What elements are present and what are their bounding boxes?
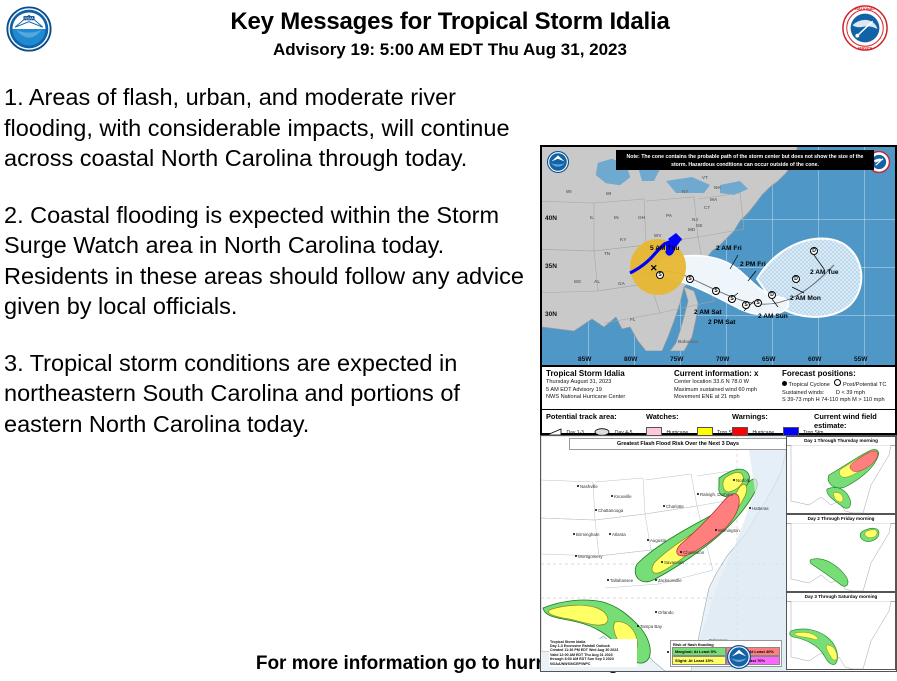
forecast-cone-overlay: ✕ — [542, 147, 895, 365]
forecast-label-2: 2 PM Fri — [740, 261, 766, 268]
sustained-winds-label: Sustained winds: — [782, 390, 824, 396]
svg-text:SERVICE: SERVICE — [858, 47, 873, 51]
day-3-map — [787, 601, 896, 669]
caption-line: NOAA/NWS/NCEP/WPC — [550, 662, 636, 666]
forecast-label-4: 2 PM Sat — [708, 319, 735, 326]
forecast-label-5: 2 AM Sun — [758, 313, 788, 320]
watches-heading: Watches: — [646, 412, 737, 421]
forecast-node-3[interactable]: S — [728, 295, 736, 303]
key-messages-list: 1. Areas of flash, urban, and moderate r… — [4, 82, 534, 439]
city-label: Savannah — [661, 560, 684, 565]
current-information-heading: Current information: — [674, 369, 752, 378]
forecast-node-8[interactable]: D — [810, 247, 818, 255]
forecast-node-6[interactable]: D — [768, 291, 776, 299]
page-subtitle: Advisory 19: 5:00 AM EDT Thu Aug 31, 202… — [120, 39, 780, 61]
forecast-label-0: 5 AM Thu — [650, 245, 679, 252]
city-label: Orlando — [655, 610, 674, 615]
graphics-column: Note: The cone contains the probable pat… — [540, 145, 897, 672]
noaa-logo: NOAA — [6, 6, 52, 52]
depression-threshold: D < 39 mph — [836, 390, 865, 396]
city-label: Knoxville — [611, 494, 632, 499]
flash-flood-risk-map[interactable]: Greatest Flash Flood Risk Over the Next … — [540, 435, 897, 672]
flash-flood-risk-legend: Risk of flash flooding Marginal: At Leas… — [670, 640, 782, 667]
storm-movement: Movement ENE at 21 mph — [674, 394, 784, 402]
forecast-node-2[interactable]: S — [712, 287, 720, 295]
risk-slight: Slight: At Least 15% — [672, 656, 726, 665]
flood-map-title: Greatest Flash Flood Risk Over the Next … — [569, 438, 787, 450]
key-message-3: 3. Tropical storm conditions are expecte… — [4, 348, 534, 440]
city-label: Jacksonville — [655, 578, 682, 583]
city-label: Nashville — [577, 484, 598, 489]
city-label: Norfolk — [733, 478, 750, 483]
day-2-panel[interactable]: Day 2 Through Friday morning — [786, 514, 896, 592]
city-label: Hatteras — [749, 506, 769, 511]
max-sustained-wind: Maximum sustained wind 60 mph — [674, 387, 784, 395]
wind-scale: S 39-73 mph H 74-110 mph M > 110 mph — [782, 397, 896, 405]
city-label: Charleston — [680, 550, 704, 555]
forecast-label-3: 2 AM Sat — [694, 309, 722, 316]
risk-marginal: Marginal: At Least 5% — [672, 647, 726, 656]
flood-main-panel: Greatest Flash Flood Risk Over the Next … — [541, 436, 788, 671]
city-label: Birmingham — [573, 532, 599, 537]
legend-top-row: Tropical Storm Idalia Thursday August 31… — [542, 367, 895, 410]
city-label: Augusta — [647, 538, 666, 543]
page-title: Key Messages for Tropical Storm Idalia — [120, 8, 780, 36]
warnings-heading: Warnings: — [732, 412, 823, 421]
forecast-positions-heading: Forecast positions: — [782, 369, 896, 379]
forecast-node-1[interactable]: S — [686, 275, 694, 283]
daily-outlook-panels: Day 1 Through Thursday morning Day 2 Thr… — [786, 436, 896, 671]
legend-bottom-row: Potential track area: Day 1-3 Day 4-5 Wa… — [542, 410, 895, 432]
forecast-label-1: 2 AM Fri — [716, 245, 742, 252]
forecast-positions-column: Forecast positions: Tropical Cyclone Pos… — [782, 369, 896, 405]
filled-circle-icon — [782, 381, 787, 386]
current-position-x-icon: x — [754, 369, 758, 378]
forecast-label-6: 2 AM Mon — [790, 295, 821, 302]
track-map-legend: Tropical Storm Idalia Thursday August 31… — [540, 367, 897, 435]
flood-map-caption: Tropical Storm Idalia Day 1-3 Excessive … — [549, 639, 637, 667]
city-label: Montgomery — [575, 554, 602, 559]
city-label: Charlotte — [663, 504, 684, 509]
forecast-label-7: 2 AM Tue — [810, 269, 839, 276]
tropical-cyclone-label: Tropical Cyclone — [788, 382, 829, 388]
svg-text:NOAA: NOAA — [24, 17, 34, 21]
svg-text:NATIONAL: NATIONAL — [855, 7, 875, 11]
forecast-track-map[interactable]: Note: The cone contains the probable pat… — [540, 145, 897, 367]
city-label: Atlanta — [609, 532, 626, 537]
city-label: Tallahassee — [607, 578, 633, 583]
key-message-2: 2. Coastal flooding is expected within t… — [4, 200, 534, 322]
city-label: Tampa Bay — [637, 624, 662, 629]
day-1-map — [787, 445, 896, 513]
current-information-column: Current information: x Center location 3… — [674, 369, 784, 402]
wind-field-heading: Current wind field estimate: — [814, 412, 897, 430]
day-2-map — [787, 523, 896, 591]
forecast-node-4[interactable]: S — [742, 301, 750, 309]
city-label: Wilmington — [715, 528, 740, 533]
post-potential-label: Post/Potential TC — [843, 382, 886, 388]
page-header: NOAA NATIONAL SERVICE Key Messages for T… — [0, 0, 897, 76]
city-label: Raleigh, Durham — [697, 492, 733, 497]
city-label: Chattanooga — [595, 508, 623, 513]
day-3-panel[interactable]: Day 3 Through Saturday morning — [786, 592, 896, 670]
forecast-node-5[interactable]: S — [754, 299, 762, 307]
key-message-1: 1. Areas of flash, urban, and moderate r… — [4, 82, 534, 174]
potential-track-heading: Potential track area: — [546, 412, 632, 421]
forecast-node-7[interactable]: D — [792, 275, 800, 283]
title-block: Key Messages for Tropical Storm Idalia A… — [120, 8, 780, 61]
day-1-panel[interactable]: Day 1 Through Thursday morning — [786, 436, 896, 514]
nws-logo: NATIONAL SERVICE — [841, 4, 889, 52]
flood-map-noaa-logo — [727, 645, 751, 669]
center-location: Center location 33.6 N 78.0 W — [674, 379, 784, 387]
open-circle-icon — [834, 379, 841, 386]
forecast-node-0[interactable]: S — [656, 271, 664, 279]
